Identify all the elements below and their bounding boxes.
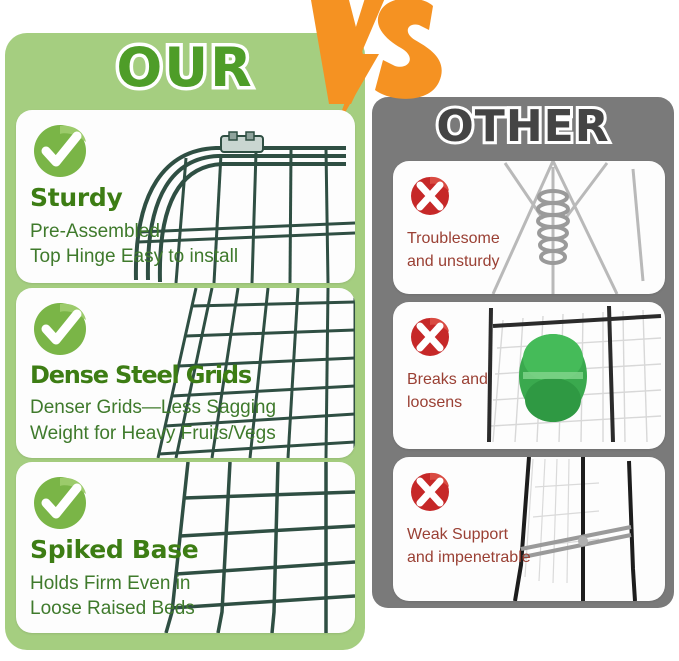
issue-description: Breaks and loosens xyxy=(407,368,557,414)
x-circle-icon xyxy=(407,173,453,219)
feature-description: Holds Firm Even in Loose Raised Beds xyxy=(30,571,349,622)
feature-title: Spiked Base xyxy=(30,536,349,564)
sturdy-text-block: Sturdy Pre-Assembled Top Hinge Easy to i… xyxy=(30,120,349,270)
other-issue-card-unsturdy: Troublesome and unsturdy xyxy=(393,161,665,294)
weak-support-text-block: Weak Support and impenetrable xyxy=(407,469,557,569)
issue-description: Weak Support and impenetrable xyxy=(407,523,557,569)
feature-description: Pre-Assembled Top Hinge Easy to install xyxy=(30,219,349,270)
feature-title: Sturdy xyxy=(30,184,349,212)
comparison-infographic: OUR OTHER xyxy=(0,0,679,661)
breaks-loosens-text-block: Breaks and loosens xyxy=(407,314,557,414)
issue-description: Troublesome and unsturdy xyxy=(407,227,557,273)
vs-letter-s xyxy=(375,0,442,99)
feature-description: Denser Grids—Less Sagging Weight for Hea… xyxy=(30,395,349,446)
dense-steel-grids-text-block: Dense Steel Grids Denser Grids—Less Sagg… xyxy=(30,298,349,447)
our-feature-card-spiked-base: Spiked Base Holds Firm Even in Loose Rai… xyxy=(16,462,355,633)
other-issue-card-breaks-loosens: Breaks and loosens xyxy=(393,302,665,449)
x-circle-icon xyxy=(407,469,453,515)
check-circle-icon xyxy=(30,298,90,358)
feature-title: Dense Steel Grids xyxy=(30,362,349,388)
spiked-base-text-block: Spiked Base Holds Firm Even in Loose Rai… xyxy=(30,472,349,622)
other-issue-card-weak-support: Weak Support and impenetrable xyxy=(393,457,665,601)
x-circle-icon xyxy=(407,314,453,360)
check-circle-icon xyxy=(30,472,90,532)
our-feature-card-dense-steel-grids: Dense Steel Grids Denser Grids—Less Sagg… xyxy=(16,288,355,458)
unsturdy-text-block: Troublesome and unsturdy xyxy=(407,173,557,273)
check-circle-icon xyxy=(30,120,90,180)
our-feature-card-sturdy: Sturdy Pre-Assembled Top Hinge Easy to i… xyxy=(16,110,355,283)
